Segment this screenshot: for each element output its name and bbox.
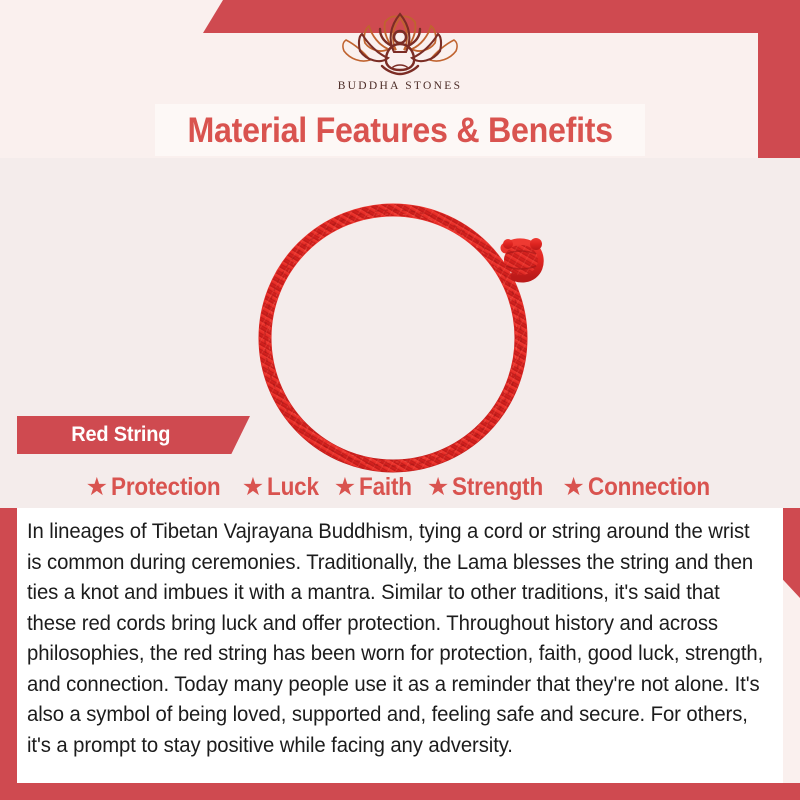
product-image-area <box>0 158 800 508</box>
page-title: Material Features & Benefits <box>187 113 612 148</box>
benefit-label: Luck <box>267 475 319 500</box>
brand-wordmark: BUDDHA STONES <box>285 80 515 92</box>
benefit-label: Strength <box>452 475 543 500</box>
description-panel: In lineages of Tibetan Vajrayana Buddhis… <box>17 508 783 783</box>
star-icon: ★ <box>334 475 356 500</box>
lotus-meditation-icon <box>336 10 464 78</box>
benefits-row: ★ Protection ★ Luck ★ Faith ★ Strength ★… <box>0 466 800 508</box>
benefit-label: Protection <box>111 475 220 500</box>
red-braided-string-bracelet-image <box>240 188 560 478</box>
star-icon: ★ <box>562 475 584 500</box>
brand-logo: BUDDHA STONES <box>285 10 515 92</box>
benefit-item: ★ Protection <box>77 475 233 500</box>
title-band: Material Features & Benefits <box>155 104 645 156</box>
benefit-label: Faith <box>359 475 412 500</box>
infographic-page: BUDDHA STONES Material Features & Benefi… <box>0 0 800 800</box>
benefit-item: ★ Strength <box>418 475 554 500</box>
material-name-ribbon: Red String <box>17 416 250 454</box>
decor-band-bottom <box>0 783 800 800</box>
description-text: In lineages of Tibetan Vajrayana Buddhis… <box>27 516 763 760</box>
benefit-item: ★ Luck <box>233 475 325 500</box>
star-icon: ★ <box>427 475 449 500</box>
star-icon: ★ <box>86 475 108 500</box>
benefit-label: Connection <box>588 475 710 500</box>
material-name-label: Red String <box>21 423 170 447</box>
star-icon: ★ <box>242 475 264 500</box>
benefit-item: ★ Connection <box>553 475 723 500</box>
benefit-item: ★ Faith <box>325 475 418 500</box>
brand-header: BUDDHA STONES <box>0 0 800 100</box>
